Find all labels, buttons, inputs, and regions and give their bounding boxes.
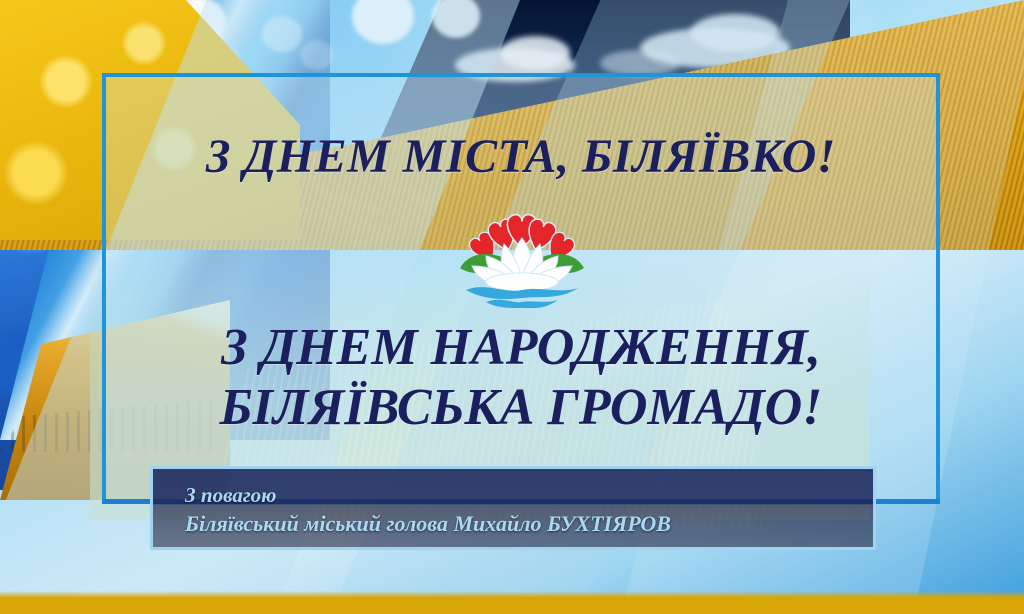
cloud-icon bbox=[500, 36, 570, 70]
bokeh-light bbox=[262, 16, 302, 52]
biliaivka-lotus-hearts-icon bbox=[452, 198, 592, 314]
signature-line-1: З повагою bbox=[185, 481, 873, 509]
gold-bottom-bar bbox=[0, 597, 1024, 614]
headline-line-2: З ДНЕМ НАРОДЖЕННЯ, bbox=[102, 318, 940, 378]
headline-block-secondary: З ДНЕМ НАРОДЖЕННЯ, БІЛЯЇВСЬКА ГРОМАДО! bbox=[102, 318, 940, 438]
headline-line-1: З ДНЕМ МІСТА, БІЛЯЇВКО! bbox=[102, 130, 940, 184]
signature-band: З повагою Біляївський міський голова Мих… bbox=[150, 466, 876, 550]
greeting-card: З ДНЕМ МІСТА, БІЛЯЇВКО! bbox=[0, 0, 1024, 614]
headline-block: З ДНЕМ МІСТА, БІЛЯЇВКО! bbox=[102, 130, 940, 184]
headline-line-3: БІЛЯЇВСЬКА ГРОМАДО! bbox=[102, 378, 940, 438]
signature-line-2: Біляївський міський голова Михайло БУХТІ… bbox=[185, 509, 873, 539]
cloud-icon bbox=[690, 14, 780, 52]
bokeh-light bbox=[300, 40, 334, 70]
